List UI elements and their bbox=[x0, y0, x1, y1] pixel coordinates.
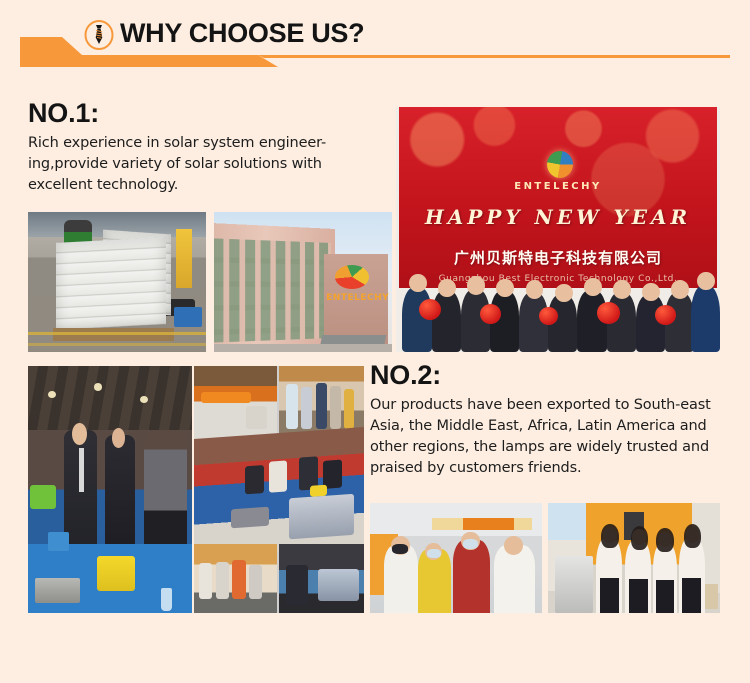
section-no2-body: Our products have been exported to South… bbox=[370, 395, 720, 479]
entelechy-logo-icon bbox=[335, 265, 369, 289]
section-no1: NO.1: Rich experience in solar system en… bbox=[28, 98, 378, 196]
entelechy-logo-icon bbox=[547, 151, 573, 178]
page-title: WHY CHOOSE US? bbox=[120, 18, 364, 49]
section-no2-title: NO.2: bbox=[370, 360, 720, 391]
banner-company-cn-label: 广州贝斯特电子科技有限公司 bbox=[396, 247, 720, 268]
photo-warehouse bbox=[28, 212, 206, 352]
banner-brand-label: ENTELECHY bbox=[396, 181, 720, 192]
photo-expo-visitors bbox=[370, 503, 542, 613]
photo-expo-booth bbox=[28, 366, 192, 613]
photo-expo-collage bbox=[194, 366, 364, 613]
photo-staff-team bbox=[548, 503, 720, 613]
photo-factory-building: ENTELECHY bbox=[214, 212, 392, 352]
page-header: WHY CHOOSE US? bbox=[0, 0, 750, 90]
necktie-icon bbox=[84, 20, 114, 50]
section-no2: NO.2: Our products have been exported to… bbox=[370, 360, 720, 479]
banner-greeting-label: HAPPY NEW YEAR bbox=[396, 205, 720, 229]
building-brand-label: ENTELECHY bbox=[326, 293, 387, 303]
section-no1-title: NO.1: bbox=[28, 98, 378, 129]
photo-team-group: ENTELECHY HAPPY NEW YEAR 广州贝斯特电子科技有限公司 G… bbox=[396, 107, 720, 352]
section-no1-body: Rich experience in solar system engineer… bbox=[28, 133, 378, 196]
